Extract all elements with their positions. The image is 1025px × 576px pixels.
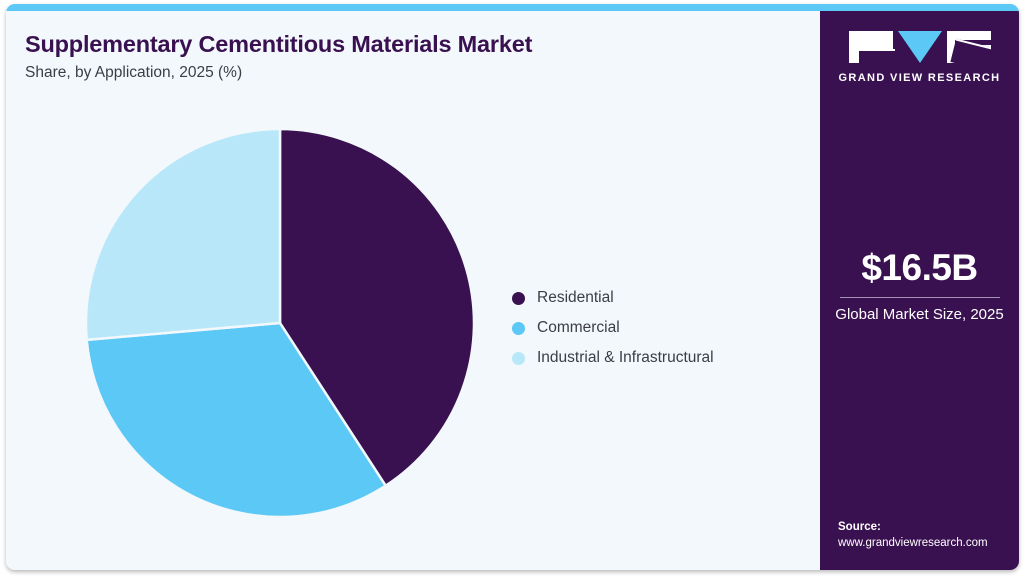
market-size-stat: $16.5B Global Market Size, 2025 [820,249,1019,324]
stat-divider [840,297,1000,298]
legend-label: Industrial & Infrastructural [537,349,714,367]
logo-marks [820,31,1019,63]
brand-sidebar: GRAND VIEW RESEARCH $16.5B Global Market… [820,11,1019,570]
legend-swatch-icon [512,322,525,335]
chart-card: Supplementary Cementitious Materials Mar… [6,4,1019,570]
grand-view-research-logo: GRAND VIEW RESEARCH [820,31,1019,84]
legend-item[interactable]: Commercial [512,313,802,343]
legend-item[interactable]: Industrial & Infrastructural [512,343,802,373]
pie-slice-group [86,129,474,517]
source-url: www.grandviewresearch.com [838,535,1016,552]
logo-g-icon [849,31,893,63]
legend-label: Residential [537,289,614,307]
source-block: Source: www.grandviewresearch.com [838,519,1016,552]
logo-r-icon [947,31,991,63]
source-label: Source: [838,519,1016,536]
pie-slice[interactable] [86,129,280,340]
accent-top-bar [6,4,1019,11]
logo-v-triangle-icon [898,31,942,63]
legend-swatch-icon [512,292,525,305]
chart-legend: ResidentialCommercialIndustrial & Infras… [512,283,802,373]
chart-content-area: Supplementary Cementitious Materials Mar… [6,11,820,570]
legend-swatch-icon [512,352,525,365]
page-title: Supplementary Cementitious Materials Mar… [25,31,532,58]
logo-wordmark: GRAND VIEW RESEARCH [820,72,1019,84]
legend-item[interactable]: Residential [512,283,802,313]
pie-chart [82,125,478,521]
market-size-value: $16.5B [832,249,1007,288]
market-size-caption: Global Market Size, 2025 [832,305,1007,324]
page-subtitle: Share, by Application, 2025 (%) [25,64,242,82]
pie-chart-svg [82,125,478,521]
legend-label: Commercial [537,319,620,337]
